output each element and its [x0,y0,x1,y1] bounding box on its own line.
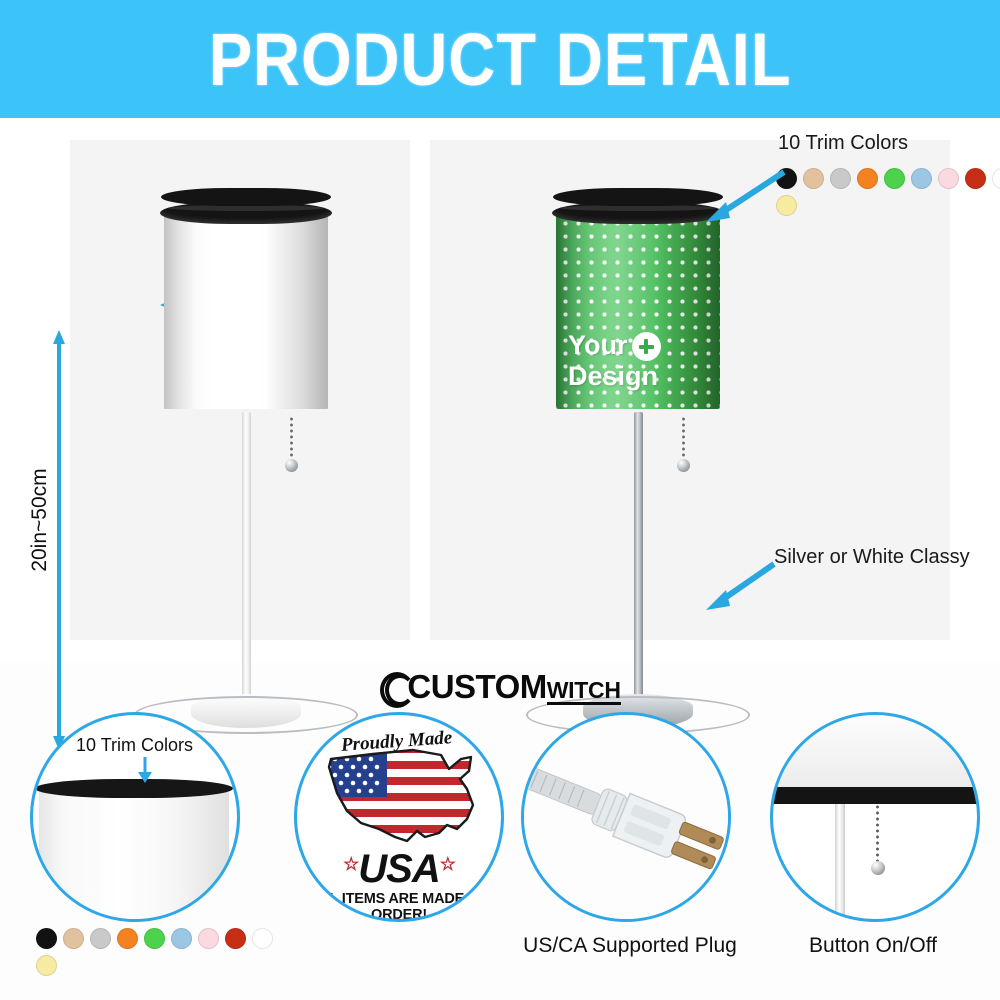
trim-swatch-pink[interactable] [198,928,219,949]
trim-swatch-gray[interactable] [90,928,111,949]
page-title: PRODUCT DETAIL [209,17,792,102]
custom-witch-c-icon [379,672,409,702]
lampshade-surface [164,213,328,409]
star-icon-left: ☆ [343,854,358,874]
plug-closeup [521,712,731,922]
trim-swatch-pink[interactable] [938,168,959,189]
feature-panels: 10 Trim Colors Proudly Made in the [0,712,1000,1000]
trim-swatch-tan[interactable] [803,168,824,189]
trim-swatch-yellow[interactable] [36,955,57,976]
panel-switch-caption: Button On/Off [748,934,998,958]
design-line-2: Design [568,361,658,391]
trim-colors-closeup: 10 Trim Colors [30,712,240,922]
shade-trim-closeup [35,779,233,798]
power-plug-icon [524,715,731,922]
design-line-1: Your [568,330,628,360]
trim-callout-arrow [700,166,790,224]
trim-swatch-orange[interactable] [117,928,138,949]
panel-trim-label: 10 Trim Colors [73,735,196,756]
pull-chain-ball[interactable] [871,861,885,875]
switch-closeup [770,712,980,922]
trim-swatch-red[interactable] [225,928,246,949]
usa-flag-map-icon [321,745,483,853]
trim-swatch-white[interactable] [992,168,1000,189]
lampshade-white [164,204,328,416]
header-banner: PRODUCT DETAIL [0,0,1000,118]
panel-plug-caption: US/CA Supported Plug [505,934,755,958]
pull-chain-ball[interactable] [677,459,690,472]
shade-trim-closeup [770,787,980,804]
star-icon-right: ☆ [440,854,455,874]
trim-swatch-black[interactable] [36,928,57,949]
pull-chain[interactable] [290,416,293,462]
lamp-pole-closeup [835,804,845,919]
pull-chain-ball[interactable] [285,459,298,472]
logo-sub-text: WITCH [547,680,621,705]
brand-logo: CUSTOM WITCH [0,663,1000,711]
trim-swatch-green[interactable] [884,168,905,189]
trim-swatch-orange[interactable] [857,168,878,189]
trim-swatch-light-blue[interactable] [911,168,932,189]
trim-swatch-tan[interactable] [63,928,84,949]
panel-trim-colors: 10 Trim Colors [14,712,264,1000]
trim-swatch-white[interactable] [252,928,273,949]
base-finish-label: Silver or White Classy [774,546,970,569]
trim-swatch-red[interactable] [965,168,986,189]
usa-badge-frame: Proudly Made in the [294,712,504,922]
trim-colors-title: 10 Trim Colors [778,132,908,155]
trim-color-swatches-bottom[interactable] [36,928,284,976]
badge-tagline: ALL ITEMS ARE MADE TO ORDER! [297,891,501,922]
trim-swatch-green[interactable] [144,928,165,949]
your-design-text: Your Design [568,330,710,391]
shade-closeup-surface [770,715,980,787]
shade-closeup-surface [39,787,229,922]
pull-chain[interactable] [682,416,685,462]
usa-text: USA [358,847,439,891]
trim-swatch-light-blue[interactable] [171,928,192,949]
main-stage: 7in~18cm 20in~50cm [0,118,1000,663]
badge-usa-word: ☆USA☆ [297,847,501,892]
base-finish-arrow [700,556,780,614]
plus-circle-icon [632,332,661,361]
lampshade-green: Your Design [556,204,720,416]
shade-trim-bottom [553,188,723,206]
height-dimension-label: 20in~50cm [28,435,52,605]
panel-switch: Button On/Off [748,712,998,1000]
panel-plug: US/CA Supported Plug [505,712,755,1000]
lamp-pole [242,412,251,704]
panel-made-in-usa: Proudly Made in the [280,712,530,1000]
trim-swatch-gray[interactable] [830,168,851,189]
product-detail-page: PRODUCT DETAIL 7in~18cm 20in~50cm [0,0,1000,1000]
logo-main-text: CUSTOM [407,668,546,706]
pull-chain-icon[interactable] [876,804,879,862]
shade-trim-bottom [161,188,331,206]
lamp-pole [634,412,643,704]
trim-color-swatches[interactable] [776,168,1000,216]
down-arrow-icon [136,757,154,783]
